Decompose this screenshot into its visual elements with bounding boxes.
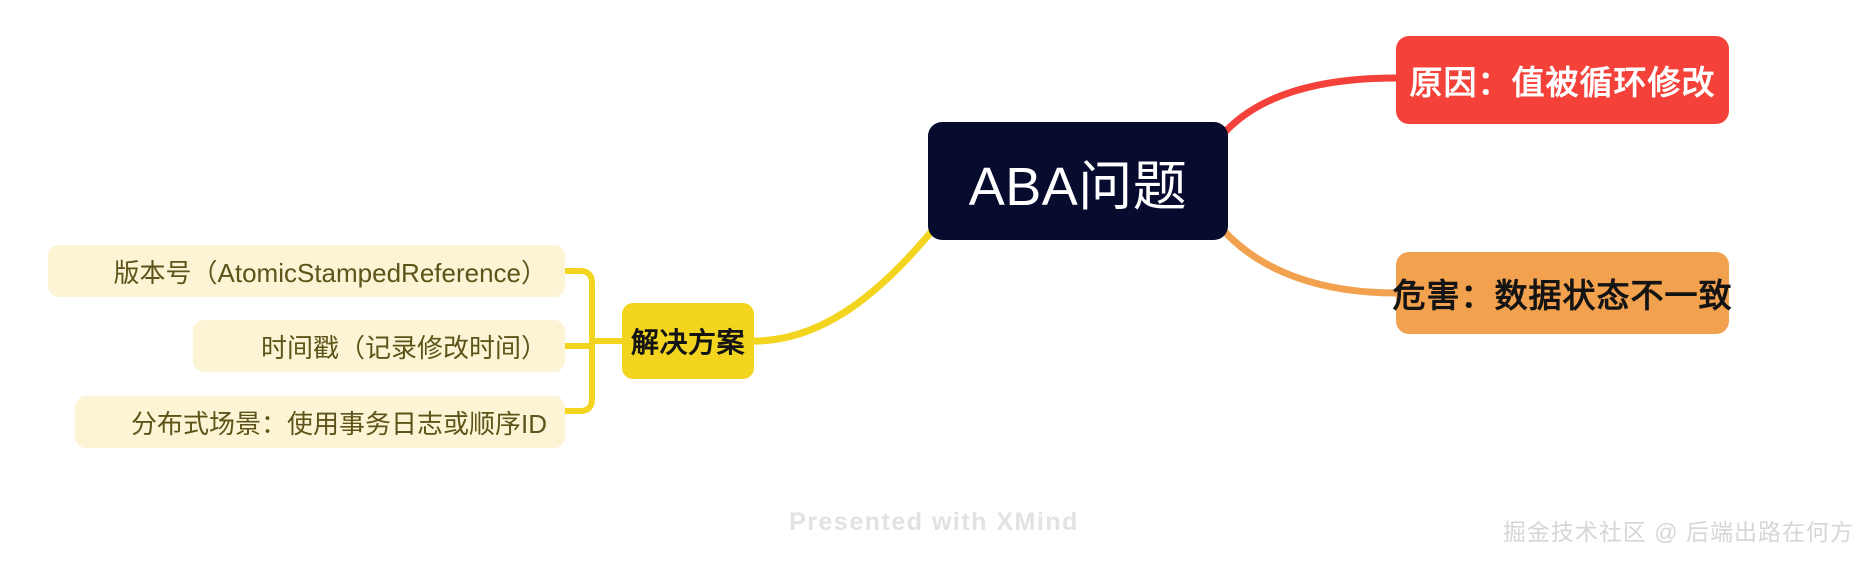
leaf-node-version-number-label: 版本号（AtomicStampedReference） bbox=[114, 253, 547, 290]
leaf-node-timestamp[interactable]: 时间戳（记录修改时间） bbox=[193, 320, 565, 372]
mindmap-canvas: ABA问题 原因：值被循环修改 危害：数据状态不一致 解决方案 版本号（Atom… bbox=[0, 0, 1868, 564]
branch-node-cause[interactable]: 原因：值被循环修改 bbox=[1396, 36, 1729, 124]
root-node[interactable]: ABA问题 bbox=[928, 122, 1228, 240]
connector-solution-to-leaf-0 bbox=[565, 271, 592, 411]
author-watermark: 掘金技术社区 @ 后端出路在何方 bbox=[1503, 513, 1854, 547]
connector-root-to-cause bbox=[1224, 78, 1396, 133]
branch-node-harm-label: 危害：数据状态不一致 bbox=[1393, 269, 1733, 317]
leaf-node-distributed-scenario-label: 分布式场景：使用事务日志或顺序ID bbox=[131, 404, 547, 441]
branch-node-cause-label: 原因：值被循环修改 bbox=[1410, 56, 1716, 104]
branch-node-solution[interactable]: 解决方案 bbox=[622, 303, 754, 379]
root-node-label: ABA问题 bbox=[969, 142, 1188, 221]
branch-node-harm[interactable]: 危害：数据状态不一致 bbox=[1396, 252, 1729, 334]
branch-node-solution-label: 解决方案 bbox=[631, 321, 745, 361]
connector-root-to-solution bbox=[754, 231, 932, 341]
leaf-node-version-number[interactable]: 版本号（AtomicStampedReference） bbox=[48, 245, 565, 297]
leaf-node-timestamp-label: 时间戳（记录修改时间） bbox=[261, 328, 547, 365]
connector-root-to-harm bbox=[1224, 231, 1396, 293]
leaf-node-distributed-scenario[interactable]: 分布式场景：使用事务日志或顺序ID bbox=[75, 396, 565, 448]
